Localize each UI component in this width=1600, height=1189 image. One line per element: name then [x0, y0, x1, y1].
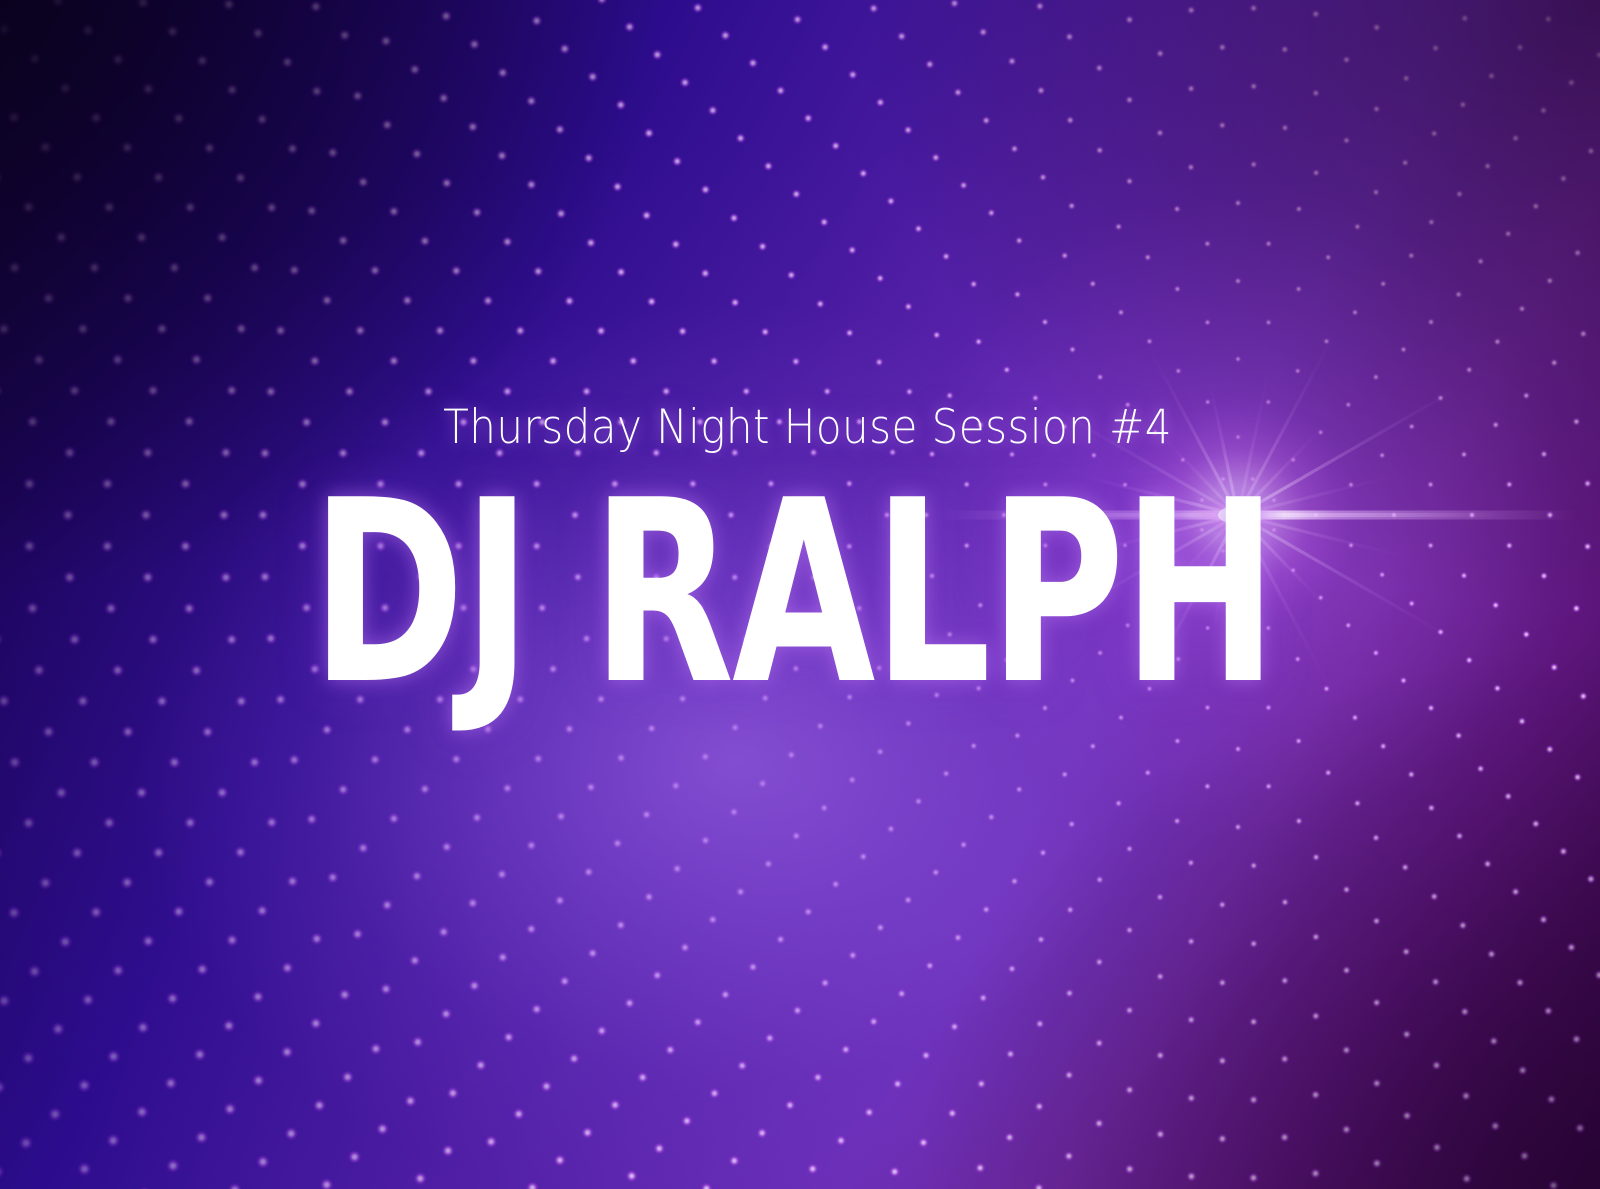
dj-ralph-poster: Thursday Night House Session #4 DJ RALPH: [0, 0, 1600, 1189]
poster-text-block: Thursday Night House Session #4 DJ RALPH: [0, 0, 1600, 1189]
poster-subtitle: Thursday Night House Session #4: [123, 404, 1172, 451]
poster-title: DJ RALPH: [311, 468, 1174, 720]
